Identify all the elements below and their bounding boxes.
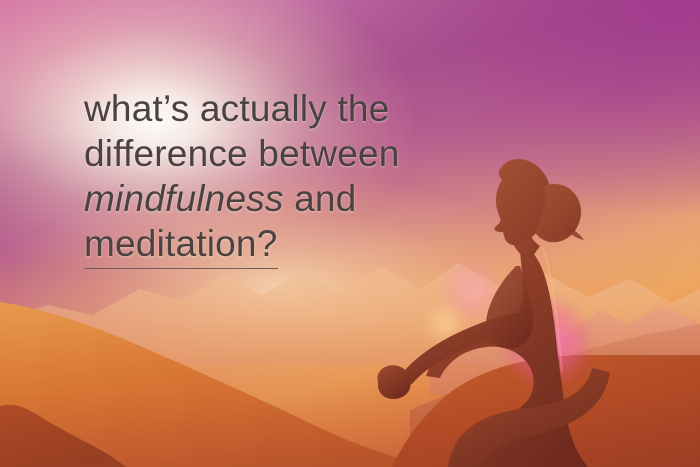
- quote-image-canvas: what’s actually the difference between m…: [0, 0, 700, 467]
- photo-grain-overlay: [0, 0, 700, 467]
